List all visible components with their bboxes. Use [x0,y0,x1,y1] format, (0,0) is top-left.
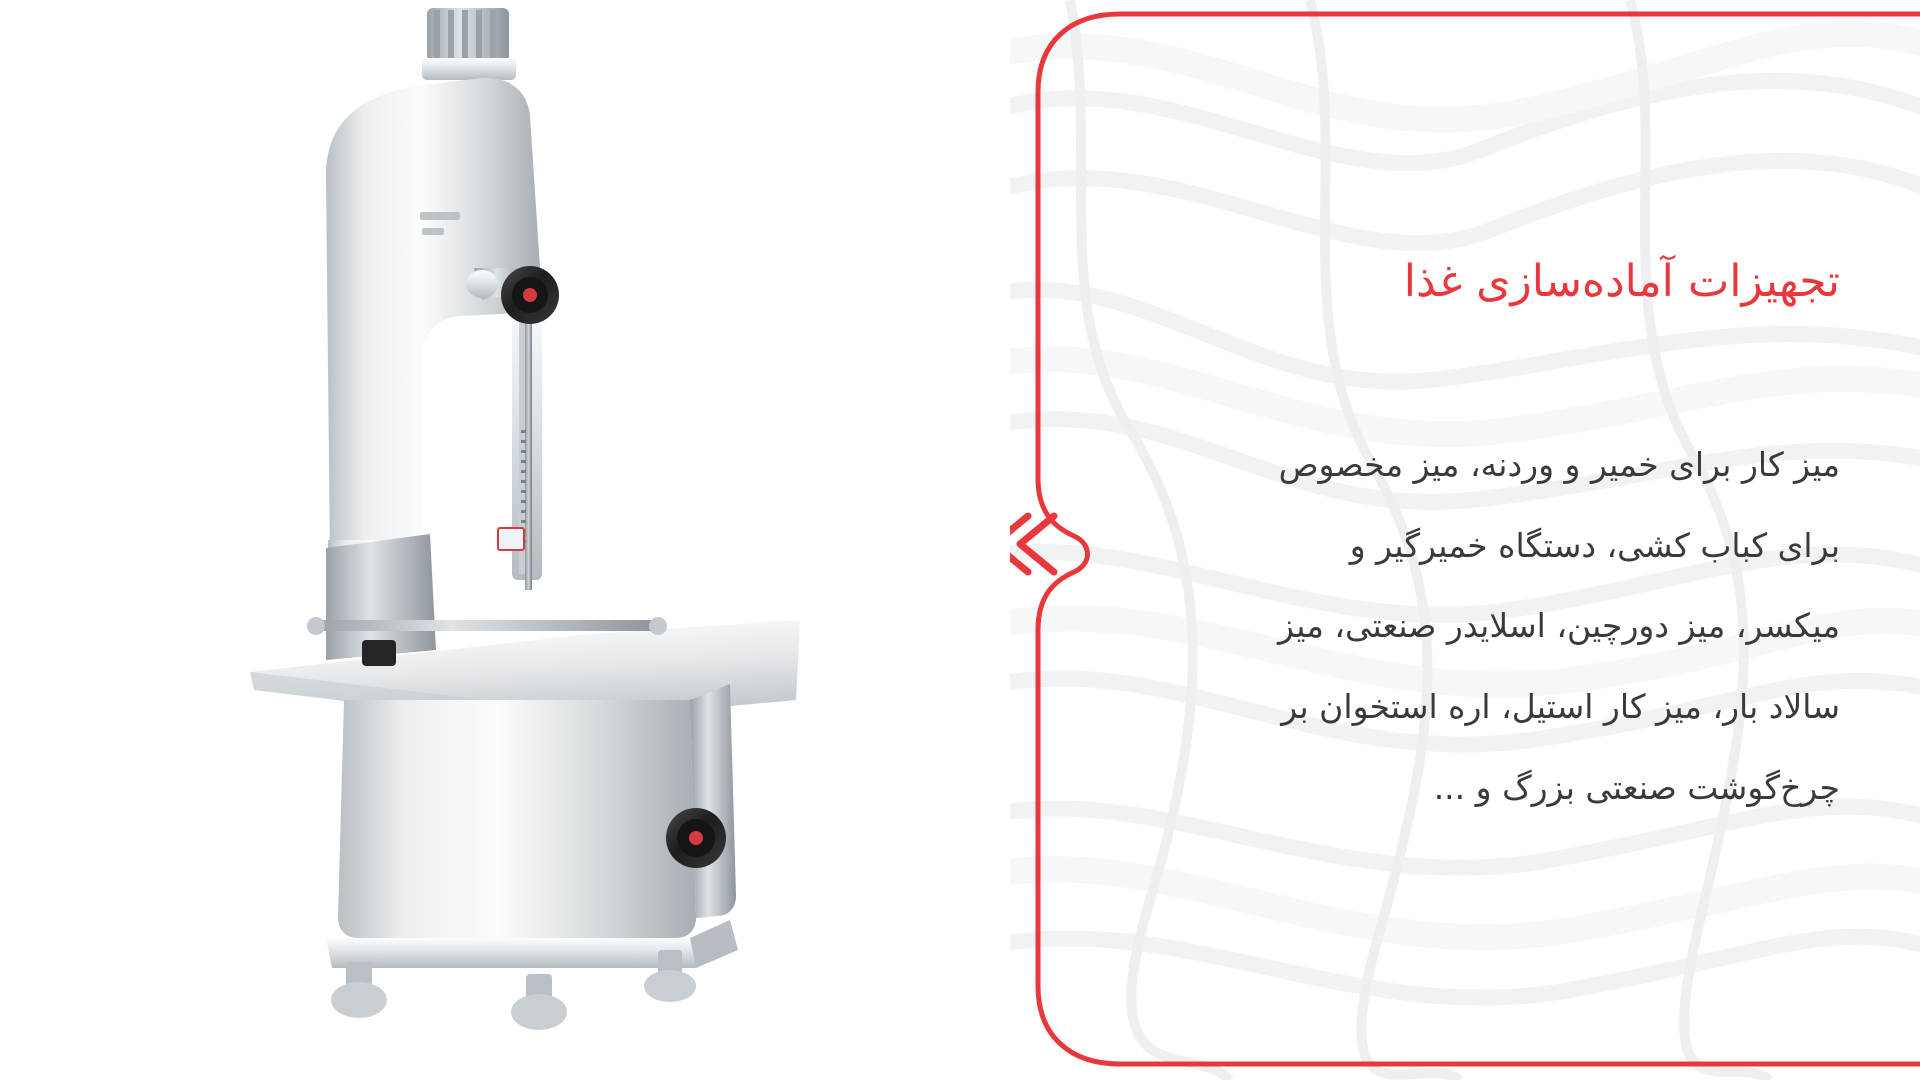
brand-plate [420,212,460,220]
description-line: سالاد بار، میز کار استیل، اره استخوان بر [1120,667,1840,748]
description-line: چرخ‌گوشت صنعتی بزرگ و ... [1120,748,1840,829]
info-card-pane: تجهیزات آماده‌سازی غذا میز کار برای خمیر… [1010,0,1920,1080]
cabinet-control-knob [666,808,726,868]
card-description: میز کار برای خمیر و وردنه، میز مخصوص برا… [1120,425,1840,829]
model-plate [422,228,444,235]
slide-root: تجهیزات آماده‌سازی غذا میز کار برای خمیر… [0,0,1920,1080]
page-title: تجهیزات آماده‌سازی غذا [1120,251,1840,313]
bone-saw-machine-photo [130,0,850,1080]
cabinet-side [690,684,736,918]
card-content: تجهیزات آماده‌سازی غذا میز کار برای خمیر… [1080,0,1850,1080]
motor-cap [422,8,516,80]
description-line: برای کباب کشی، دستگاه خمیرگیر و [1120,506,1840,587]
warning-label [498,528,524,550]
cross-bar [316,620,656,631]
machine-cabinet [338,700,696,938]
head-control-knob [501,266,559,324]
description-line: میز کار برای خمیر و وردنه، میز مخصوص [1120,425,1840,506]
triple-chevron-left-icon[interactable] [1010,498,1078,590]
base-rail [326,938,696,968]
product-image-pane [0,0,1010,1080]
description-line: میکسر، میز دورچین، اسلایدر صنعتی، میز [1120,586,1840,667]
saw-blade [525,300,532,590]
clamp-block [362,640,396,666]
